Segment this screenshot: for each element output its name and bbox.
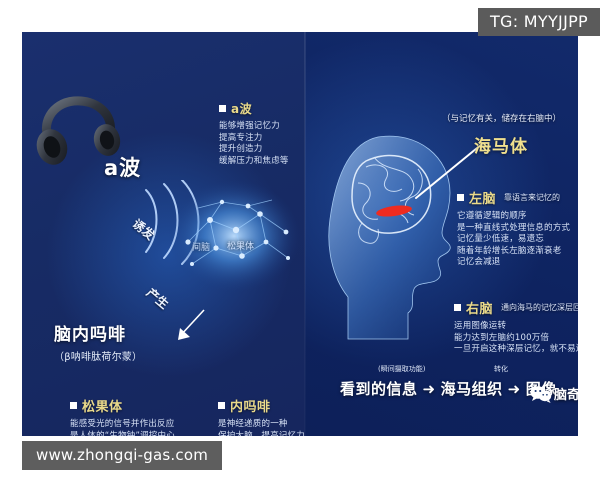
info-line: 是人体的“生物钟”调控中心 [70,431,175,437]
hippocampus-title: 海马体 [474,132,528,157]
info-lines: 运用图像运转 能力达到左脑约100万倍 一旦开启这种深层记忆，就不易遗忘 [454,321,578,356]
flow-note-transform: 转化 [494,364,508,374]
memory-flow-diagram: (瞬间摄取功能) 转化 看到的信息 ➜ 海马组织 ➜ 图像 [332,362,578,408]
info-line: 能够增强记忆力 [219,121,289,133]
info-title-note: 通向海马的记忆深层回路 [501,302,578,313]
info-line: 是神经递质的一种 [218,419,305,431]
endorphin-main-label: 脑内吗啡 （β呐啡肽荷尔蒙） [54,320,142,363]
info-lines: 是神经递质的一种 保护大脑，提高记忆力 加快信息储存等 [218,419,305,436]
endorphin-subtitle: （β呐啡肽荷尔蒙） [54,348,142,363]
wechat-badge: 脑奇艺 [530,384,578,403]
info-title-note: 靠语言来记忆的 [504,192,560,203]
info-line: 记忆量少低速，易遗忘 [457,234,570,246]
info-line: 是一种直线式处理信息的方式 [457,223,570,235]
info-lines: 能感受光的信号并作出反应 是人体的“生物钟”调控中心 执行激素转换器功能等 [70,419,175,436]
info-line: 能力达到左脑约100万倍 [454,333,578,345]
info-title: 右脑 [466,298,493,317]
brain-tag-pineal: 松果体 [227,239,254,252]
info-head: 内吗啡 [218,396,305,415]
info-block-alpha-wave: a波 能够增强记忆力 提高专注力 提升创造力 缓解压力和焦虑等 [219,100,289,167]
info-line: 能感受光的信号并作出反应 [70,419,175,431]
tg-watermark: TG: MYYJJPP [478,8,600,36]
info-line: 提高专注力 [219,133,289,145]
flow-step-hippocampus: 海马组织 [441,378,503,399]
info-title: a波 [231,100,252,117]
flow-arrow-icon: ➜ [423,380,436,398]
endorphin-title: 脑内吗啡 [54,320,142,345]
info-block-endorphin: 内吗啡 是神经递质的一种 保护大脑，提高记忆力 加快信息储存等 [218,396,305,436]
info-head: 左脑 靠语言来记忆的 [457,188,570,207]
flow-arrow-icon: ➜ [508,380,521,398]
info-head: 松果体 [70,396,175,415]
wechat-icon [530,385,552,403]
info-title: 左脑 [469,188,496,207]
info-block-pineal-gland: 松果体 能感受光的信号并作出反应 是人体的“生物钟”调控中心 执行激素转换器功能… [70,396,175,436]
info-line: 缓解压力和焦虑等 [219,156,289,168]
site-url-watermark: www.zhongqi-gas.com [22,441,222,470]
hippocampus-note: （与记忆有关，储存在右脑中） [442,112,561,124]
info-block-left-brain: 左脑 靠语言来记忆的 它遵循逻辑的顺序 是一种直线式处理信息的方式 记忆量少低速… [457,188,570,269]
bullet-square-icon [218,402,225,409]
info-line: 保护大脑，提高记忆力 [218,431,305,437]
flow-note-instant-capture: (瞬间摄取功能) [378,364,425,374]
bullet-square-icon [454,304,461,311]
screenshot-root: TG: MYYJJPP a波 [0,0,600,480]
info-line: 它遵循逻辑的顺序 [457,211,570,223]
info-block-right-brain: 右脑 通向海马的记忆深层回路 运用图像运转 能力达到左脑约100万倍 一旦开启这… [454,298,578,356]
glowing-brain-graphic [162,172,312,302]
info-lines: 能够增强记忆力 提高专注力 提升创造力 缓解压力和焦虑等 [219,121,289,167]
bullet-square-icon [70,402,77,409]
flow-row: 看到的信息 ➜ 海马组织 ➜ 图像 [340,378,557,399]
bullet-square-icon [219,105,226,112]
flow-step-seen-info: 看到的信息 [340,378,418,399]
info-lines: 它遵循逻辑的顺序 是一种直线式处理信息的方式 记忆量少低速，易遗忘 随着年龄增长… [457,211,570,269]
bullet-square-icon [457,194,464,201]
info-line: 记忆会减退 [457,257,570,269]
endorphin-arrow-icon [170,306,210,346]
brain-tag-diencephalon: 间脑 [192,240,210,253]
wechat-account-name: 脑奇艺 [554,384,578,403]
alpha-wave-big-label: a波 [104,152,141,182]
info-line: 提升创造力 [219,144,289,156]
info-head: a波 [219,100,289,117]
info-line: 一旦开启这种深层记忆，就不易遗忘 [454,344,578,356]
info-title: 内吗啡 [230,396,271,415]
info-line: 随着年龄增长左脑逐渐衰老 [457,246,570,258]
info-title: 松果体 [82,396,123,415]
infographic-poster: a波 诱发 [22,32,578,436]
info-line: 运用图像运转 [454,321,578,333]
info-head: 右脑 通向海马的记忆深层回路 [454,298,578,317]
